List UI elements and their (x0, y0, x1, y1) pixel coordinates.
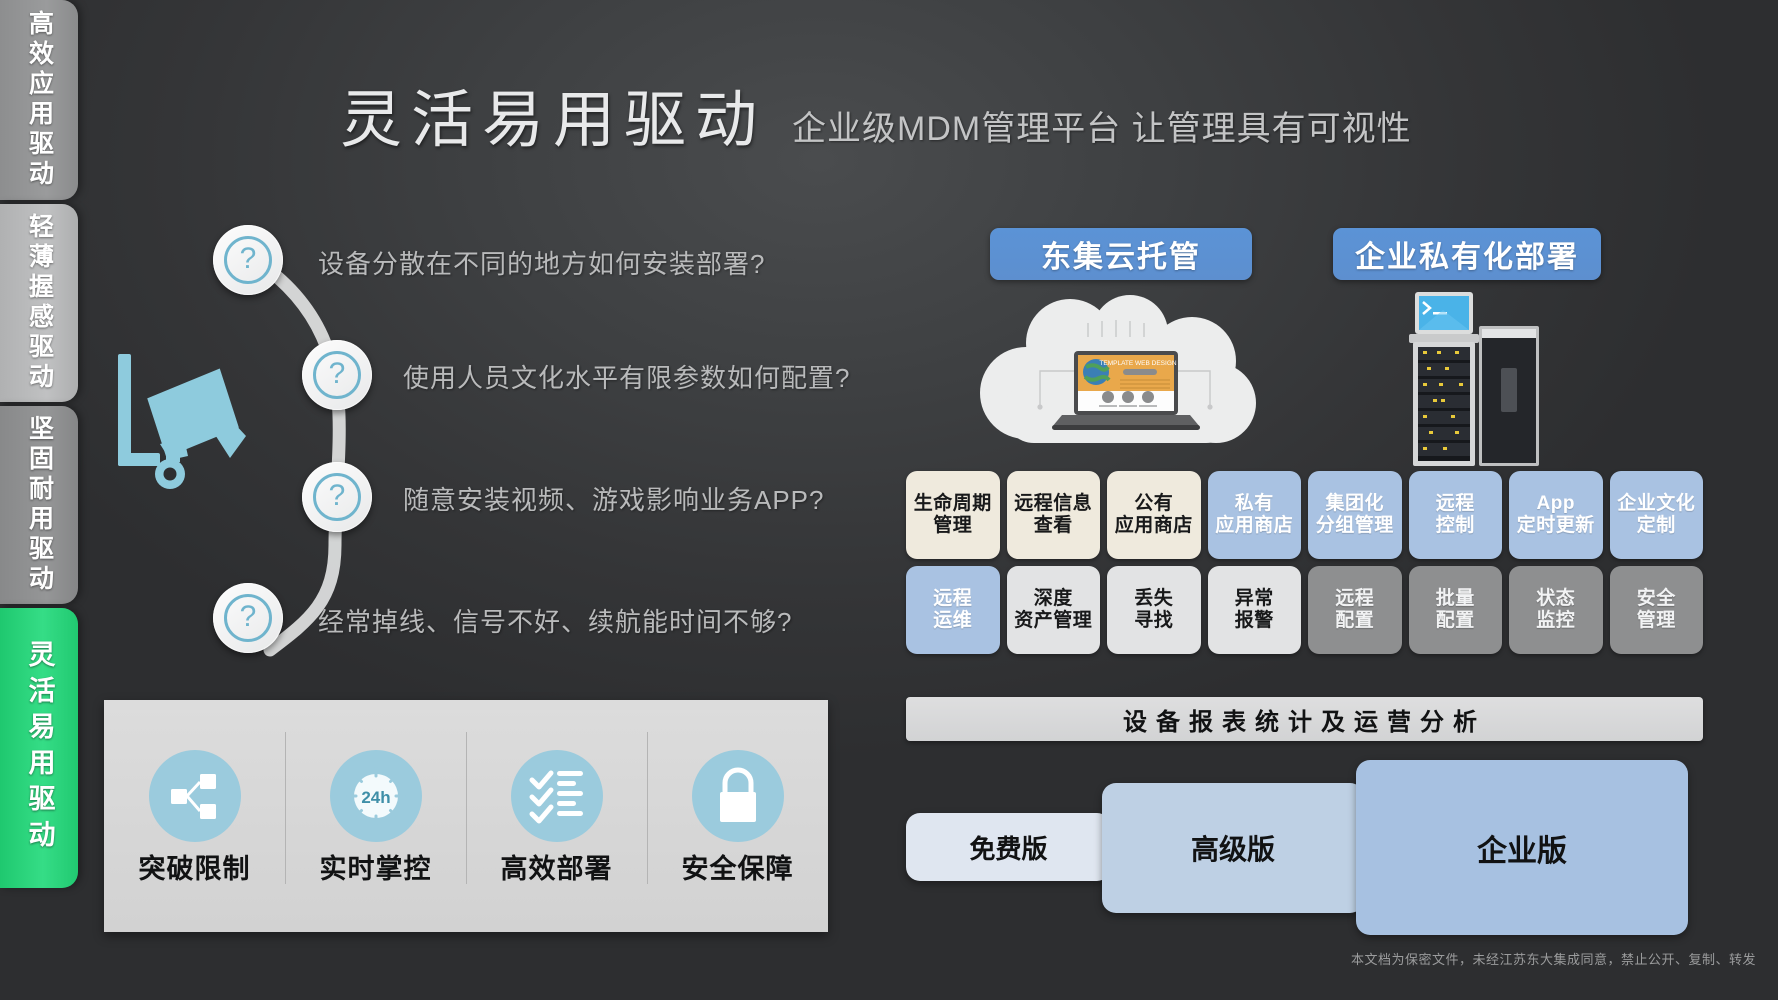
question-text: 使用人员文化水平有限参数如何配置? (403, 358, 850, 395)
feature-highlights-panel: 突破限制 24h 实时掌控 (104, 700, 828, 932)
edition-tier-free-label: 免费版 (969, 829, 1047, 866)
report-analysis-label: 设备报表统计及运营分析 (1123, 702, 1486, 737)
report-analysis-bar[interactable]: 设备报表统计及运营分析 (906, 697, 1703, 741)
edition-tier-advanced[interactable]: 高级版 (1102, 783, 1364, 913)
deployment-pill-private-label: 企业私有化部署 (1355, 232, 1579, 276)
page-title: 灵活易用驱动 (340, 90, 766, 152)
question-chain: ? ? ? ? 设备分散在不同的地方如何安装部署? 使用人员文化水平有限参数如何… (150, 200, 850, 680)
deployment-pill-cloud-label: 东集云托管 (1041, 232, 1201, 276)
capability-tile-label: 远程运维 (933, 588, 972, 633)
capability-tile[interactable]: 集团化分组管理 (1308, 471, 1402, 559)
share-network-icon (167, 768, 223, 824)
icon-wrapper (511, 750, 603, 842)
capability-tile-label: 深度资产管理 (1014, 588, 1092, 633)
capability-tile-label: 远程控制 (1436, 493, 1475, 538)
capability-tile-label: 远程配置 (1335, 588, 1374, 633)
sidebar-item-rugged-durable[interactable]: 坚固耐用驱动 (0, 406, 78, 604)
clock-badge-text: 24h (361, 788, 390, 807)
feature-label: 实时掌控 (320, 856, 432, 883)
capability-tile[interactable]: 远程运维 (906, 566, 1000, 654)
capability-tile[interactable]: 生命周期管理 (906, 471, 1000, 559)
feature-label: 突破限制 (139, 856, 251, 883)
deployment-pill-cloud[interactable]: 东集云托管 (990, 228, 1252, 280)
feature-item-security-guarantee[interactable]: 安全保障 (647, 700, 828, 932)
sidebar-item-flexible-easy-active[interactable]: 灵活易用驱动 (0, 608, 78, 888)
padlock-icon (711, 767, 765, 825)
capability-tile-label: App定时更新 (1517, 493, 1595, 538)
icon-wrapper (149, 750, 241, 842)
capability-tile-label: 集团化分组管理 (1316, 493, 1394, 538)
question-marker[interactable]: ? (302, 462, 372, 532)
capability-tile-label: 企业文化定制 (1617, 493, 1695, 538)
capability-tile[interactable]: 批量配置 (1409, 566, 1503, 654)
feature-label: 高效部署 (501, 856, 613, 883)
capability-tile-grid: 生命周期管理远程信息查看公有应用商店私有应用商店集团化分组管理远程控制App定时… (906, 471, 1703, 654)
edition-tier-advanced-label: 高级版 (1191, 828, 1275, 868)
capability-tile[interactable]: 远程配置 (1308, 566, 1402, 654)
cloud-laptop-illustration: TEMPLATE WEB DESIGN (978, 295, 1264, 455)
feature-item-efficient-deploy[interactable]: 高效部署 (466, 700, 647, 932)
capability-tile-label: 丢失寻找 (1134, 588, 1173, 633)
slide-canvas: 高效应用驱动 轻薄握感驱动 坚固耐用驱动 灵活易用驱动 灵活易用驱动 企业级MD… (0, 0, 1778, 1000)
capability-tile[interactable]: 深度资产管理 (1007, 566, 1101, 654)
capability-tile[interactable]: 异常报警 (1208, 566, 1302, 654)
capability-tile-label: 远程信息查看 (1014, 493, 1092, 538)
capability-tile-label: 私有应用商店 (1215, 493, 1293, 538)
sidebar-item-label: 灵活易用驱动 (26, 640, 53, 856)
question-text: 经常掉线、信号不好、续航能时间不够? (318, 602, 792, 639)
deployment-pill-private[interactable]: 企业私有化部署 (1333, 228, 1601, 280)
sidebar-item-label: 坚固耐用驱动 (27, 415, 52, 595)
question-mark-glyph: ? (224, 594, 272, 642)
capability-tile-label: 异常报警 (1235, 588, 1274, 633)
capability-tile[interactable]: 远程信息查看 (1007, 471, 1101, 559)
icon-wrapper (692, 750, 784, 842)
capability-tile[interactable]: 私有应用商店 (1208, 471, 1302, 559)
capability-tile[interactable]: 企业文化定制 (1610, 471, 1704, 559)
question-mark-glyph: ? (313, 351, 361, 399)
edition-tier-free[interactable]: 免费版 (906, 813, 1111, 881)
capability-tile[interactable]: 公有应用商店 (1107, 471, 1201, 559)
question-marker[interactable]: ? (213, 583, 283, 653)
page-subtitle: 企业级MDM管理平台 让管理具有可视性 (792, 112, 1412, 152)
edition-tier-enterprise[interactable]: 企业版 (1356, 760, 1688, 935)
capability-tile[interactable]: 安全管理 (1610, 566, 1704, 654)
checklist-icon (528, 768, 586, 824)
feature-item-realtime-control[interactable]: 24h 实时掌控 (285, 700, 466, 932)
question-marker[interactable]: ? (213, 225, 283, 295)
confidentiality-note: 本文档为保密文件，未经江苏东大集成同意，禁止公开、复制、转发 (1351, 949, 1756, 968)
feature-item-break-limits[interactable]: 突破限制 (104, 700, 285, 932)
capability-tile[interactable]: 丢失寻找 (1107, 566, 1201, 654)
page-header: 灵活易用驱动 企业级MDM管理平台 让管理具有可视性 (340, 90, 1412, 152)
sidebar-item-label: 高效应用驱动 (27, 10, 52, 190)
capability-tile-label: 批量配置 (1436, 588, 1475, 633)
capability-tile-label: 公有应用商店 (1115, 493, 1193, 538)
sidebar-item-slim-grip[interactable]: 轻薄握感驱动 (0, 204, 78, 402)
capability-tile[interactable]: App定时更新 (1509, 471, 1603, 559)
capability-tile-label: 生命周期管理 (914, 493, 992, 538)
capability-tile[interactable]: 远程控制 (1409, 471, 1503, 559)
question-mark-glyph: ? (224, 236, 272, 284)
vertical-tab-strip: 高效应用驱动 轻薄握感驱动 坚固耐用驱动 灵活易用驱动 (0, 0, 78, 1000)
sidebar-item-label: 轻薄握感驱动 (27, 213, 52, 393)
edition-tiers: 免费版 高级版 企业版 (906, 760, 1706, 935)
question-mark-glyph: ? (313, 473, 361, 521)
capability-tile-label: 状态监控 (1536, 588, 1575, 633)
question-marker[interactable]: ? (302, 340, 372, 410)
clock-24h-icon: 24h (345, 765, 407, 827)
question-text: 随意安装视频、游戏影响业务APP? (403, 480, 825, 517)
icon-wrapper: 24h (330, 750, 422, 842)
sidebar-item-high-efficiency[interactable]: 高效应用驱动 (0, 0, 78, 200)
capability-tile[interactable]: 状态监控 (1509, 566, 1603, 654)
edition-tier-enterprise-label: 企业版 (1477, 826, 1567, 870)
server-rack-illustration (1393, 290, 1551, 472)
laptop-screen-title: TEMPLATE WEB DESIGN (1099, 360, 1176, 367)
capability-tile-label: 安全管理 (1637, 588, 1676, 633)
feature-label: 安全保障 (682, 856, 794, 883)
question-text: 设备分散在不同的地方如何安装部署? (318, 244, 765, 281)
